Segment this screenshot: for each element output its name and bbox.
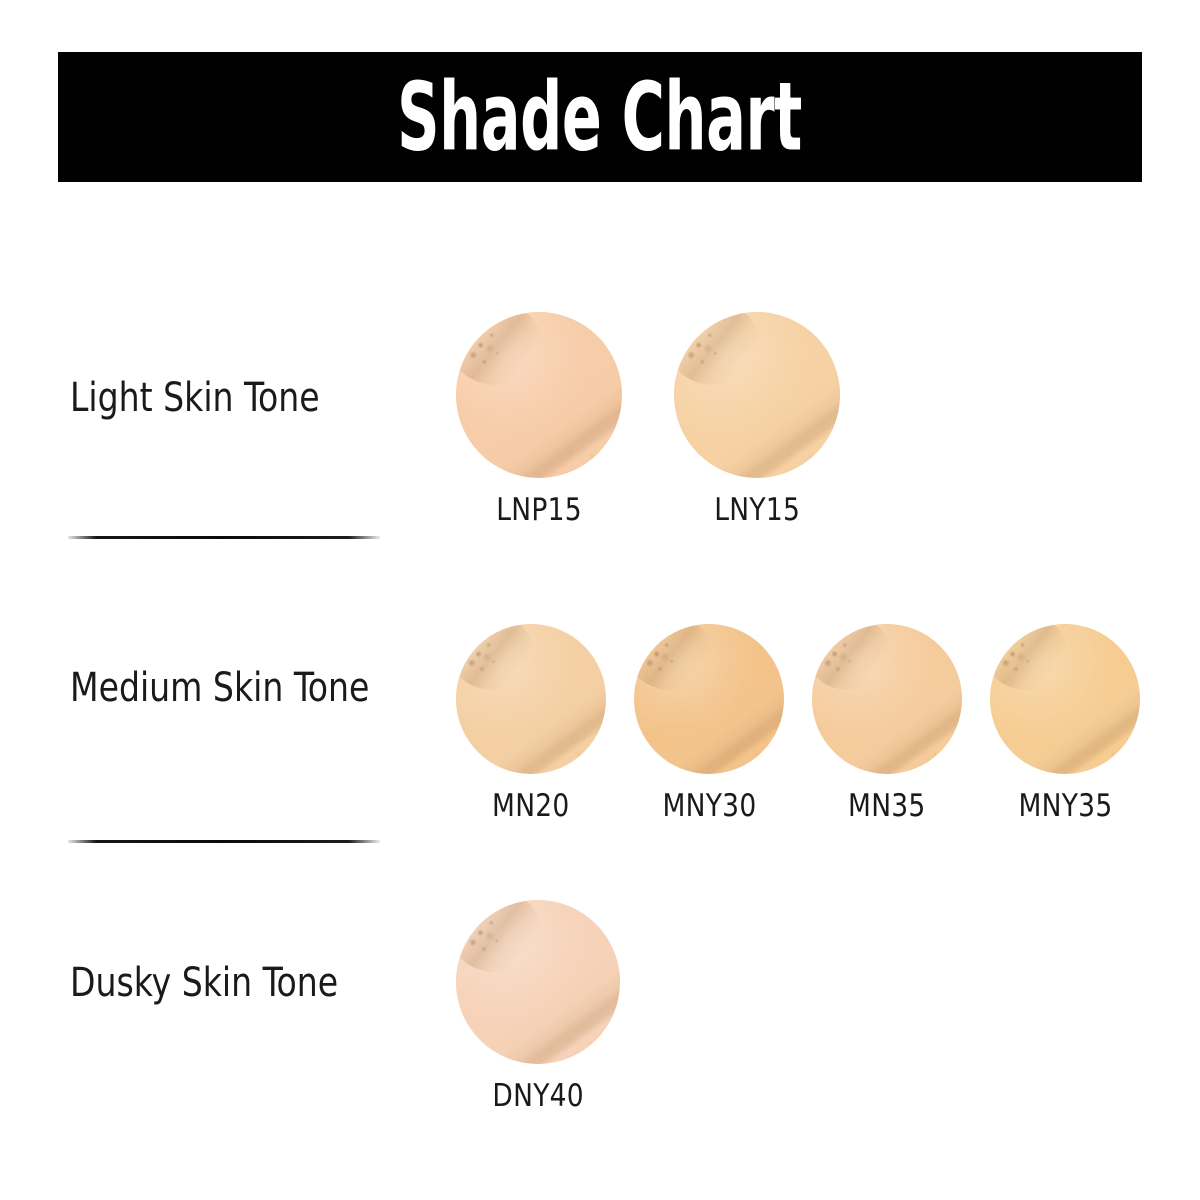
shade-chart-page: Shade Chart Light Skin Tone LNP15LNY15 M… [0,0,1200,1200]
row-divider-2 [68,840,380,843]
shade-swatch-texture-rim [456,900,620,1064]
shade-code-label: DNY40 [492,1078,584,1114]
shade-code-label: MNY30 [662,788,756,824]
shade-swatch-texture-rim [456,624,606,774]
shade-swatch[interactable]: LNY15 [674,312,840,528]
shade-swatch-texture-rim [990,624,1140,774]
shade-swatch-texture-rim [456,312,622,478]
swatch-group-medium: MN20MNY30MN35MNY35 [456,624,1140,824]
shade-swatch-disc [634,624,784,774]
shade-code-label: MN35 [848,788,926,824]
shade-swatch-texture-rim [812,624,962,774]
shade-code-label: LNY15 [714,492,800,528]
shade-swatch[interactable]: MN35 [812,624,962,824]
shade-swatch-disc [812,624,962,774]
shade-swatch-texture-rim [674,312,840,478]
swatch-group-dusky: DNY40 [456,900,620,1114]
shade-swatch[interactable]: MN20 [456,624,606,824]
shade-swatch-disc [456,312,622,478]
page-title: Shade Chart [398,70,803,164]
shade-swatch[interactable]: DNY40 [456,900,620,1114]
shade-swatch-texture-rim [634,624,784,774]
title-banner: Shade Chart [58,52,1142,182]
row-label-medium: Medium Skin Tone [70,665,369,711]
swatch-group-light: LNP15LNY15 [456,312,840,528]
shade-swatch[interactable]: MNY35 [990,624,1140,824]
shade-code-label: LNP15 [496,492,582,528]
shade-code-label: MNY35 [1018,788,1112,824]
shade-swatch-disc [456,624,606,774]
row-label-dusky: Dusky Skin Tone [70,960,338,1006]
shade-swatch-disc [990,624,1140,774]
row-label-light: Light Skin Tone [70,375,320,421]
shade-swatch-disc [674,312,840,478]
shade-swatch[interactable]: MNY30 [634,624,784,824]
row-divider-1 [68,536,380,539]
shade-swatch-disc [456,900,620,1064]
shade-code-label: MN20 [492,788,570,824]
shade-swatch[interactable]: LNP15 [456,312,622,528]
